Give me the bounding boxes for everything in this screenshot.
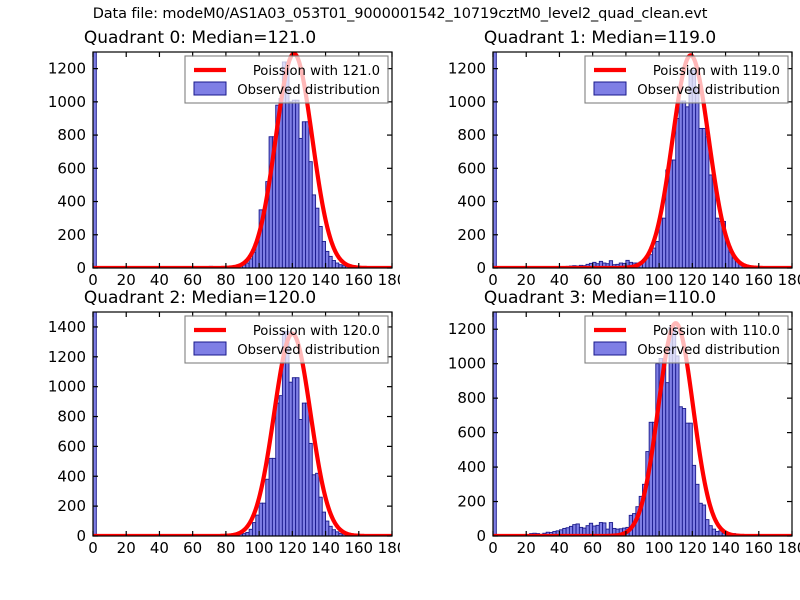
x-tick-label: 180 — [778, 539, 800, 557]
y-tick-label: 200 — [457, 226, 486, 244]
x-tick-label: 180 — [778, 271, 800, 289]
legend[interactable]: Poission with 120.0Observed distribution — [185, 316, 388, 363]
y-tick-label: 0 — [76, 527, 86, 545]
figure-canvas: Data file: modeM0/AS1A03_053T01_90000015… — [0, 0, 800, 600]
y-tick-label: 600 — [57, 159, 86, 177]
y-tick-label: 600 — [57, 437, 86, 455]
y-tick-label: 600 — [457, 424, 486, 442]
legend[interactable]: Poission with 119.0Observed distribution — [585, 56, 788, 103]
y-tick-label: 0 — [76, 259, 86, 277]
x-tick-label: 20 — [117, 539, 136, 557]
x-tick-label: 0 — [88, 271, 98, 289]
x-tick-label: 80 — [216, 271, 235, 289]
x-tick-label: 40 — [150, 539, 169, 557]
x-tick-label: 160 — [744, 271, 773, 289]
y-tick-label: 200 — [457, 493, 486, 511]
legend-label-poisson: Poission with 121.0 — [253, 64, 380, 79]
x-tick-label: 140 — [311, 539, 340, 557]
x-tick-label: 100 — [645, 539, 674, 557]
subplot-quadrant-3: Quadrant 3: Median=110.00204060801001201… — [400, 288, 800, 568]
y-tick-label: 400 — [457, 458, 486, 476]
y-tick-label: 1400 — [48, 318, 86, 336]
x-tick-label: 0 — [488, 271, 498, 289]
y-tick-label: 1000 — [48, 378, 86, 396]
x-tick-label: 80 — [616, 271, 635, 289]
legend-label-observed: Observed distribution — [637, 343, 780, 358]
x-tick-label: 140 — [311, 271, 340, 289]
legend-label-observed: Observed distribution — [237, 343, 380, 358]
x-tick-label: 120 — [678, 271, 707, 289]
y-tick-label: 400 — [57, 193, 86, 211]
subplot-quadrant-1: Quadrant 1: Median=119.00204060801001201… — [400, 28, 800, 300]
x-tick-label: 20 — [517, 539, 536, 557]
x-tick-label: 20 — [117, 271, 136, 289]
legend-label-poisson: Poission with 120.0 — [253, 324, 380, 339]
legend-label-poisson: Poission with 119.0 — [653, 64, 780, 79]
x-tick-label: 80 — [616, 539, 635, 557]
legend[interactable]: Poission with 110.0Observed distribution — [585, 316, 788, 363]
y-tick-label: 200 — [57, 226, 86, 244]
y-tick-label: 1000 — [448, 93, 486, 111]
y-tick-label: 600 — [457, 159, 486, 177]
x-tick-label: 60 — [583, 539, 602, 557]
y-tick-label: 800 — [57, 126, 86, 144]
x-tick-label: 160 — [344, 539, 373, 557]
x-tick-label: 140 — [711, 539, 740, 557]
y-tick-label: 1000 — [448, 355, 486, 373]
x-tick-label: 120 — [278, 539, 307, 557]
x-tick-label: 180 — [378, 271, 400, 289]
subplot-quadrant-2: Quadrant 2: Median=120.00204060801001201… — [0, 288, 400, 568]
subplot-title: Quadrant 2: Median=120.0 — [0, 288, 400, 308]
x-tick-label: 160 — [344, 271, 373, 289]
y-tick-label: 0 — [476, 259, 486, 277]
x-tick-label: 0 — [488, 539, 498, 557]
legend-label-observed: Observed distribution — [637, 83, 780, 98]
subplot-title: Quadrant 0: Median=121.0 — [0, 28, 400, 48]
subplot-quadrant-0: Quadrant 0: Median=121.00204060801001201… — [0, 28, 400, 300]
plot-area-svg: 0204060801001201401601800200400600800100… — [0, 288, 400, 568]
y-tick-label: 1200 — [48, 60, 86, 78]
x-tick-label: 20 — [517, 271, 536, 289]
y-tick-label: 1000 — [48, 93, 86, 111]
x-tick-label: 60 — [183, 271, 202, 289]
x-tick-label: 40 — [550, 539, 569, 557]
y-tick-label: 800 — [457, 389, 486, 407]
x-tick-label: 160 — [744, 539, 773, 557]
figure-suptitle: Data file: modeM0/AS1A03_053T01_90000015… — [0, 6, 800, 22]
x-tick-label: 100 — [645, 271, 674, 289]
x-tick-label: 100 — [245, 539, 274, 557]
x-tick-label: 60 — [583, 271, 602, 289]
y-tick-label: 1200 — [48, 348, 86, 366]
plot-area-svg: 0204060801001201401601800200400600800100… — [400, 288, 800, 568]
x-tick-label: 120 — [678, 539, 707, 557]
x-tick-label: 120 — [278, 271, 307, 289]
x-tick-label: 100 — [245, 271, 274, 289]
y-tick-label: 800 — [457, 126, 486, 144]
legend-label-poisson: Poission with 110.0 — [653, 324, 780, 339]
y-tick-label: 0 — [476, 527, 486, 545]
y-tick-label: 800 — [57, 408, 86, 426]
plot-area-svg: 0204060801001201401601800200400600800100… — [0, 28, 400, 300]
x-tick-label: 180 — [378, 539, 400, 557]
y-tick-label: 1200 — [448, 320, 486, 338]
legend-label-observed: Observed distribution — [237, 83, 380, 98]
y-tick-label: 1200 — [448, 60, 486, 78]
subplot-title: Quadrant 3: Median=110.0 — [400, 288, 800, 308]
subplot-title: Quadrant 1: Median=119.0 — [400, 28, 800, 48]
x-tick-label: 40 — [150, 271, 169, 289]
x-tick-label: 80 — [216, 539, 235, 557]
plot-area-svg: 0204060801001201401601800200400600800100… — [400, 28, 800, 300]
y-tick-label: 400 — [57, 467, 86, 485]
x-tick-label: 0 — [88, 539, 98, 557]
y-tick-label: 400 — [457, 193, 486, 211]
x-tick-label: 60 — [183, 539, 202, 557]
x-tick-label: 140 — [711, 271, 740, 289]
y-tick-label: 200 — [57, 497, 86, 515]
x-tick-label: 40 — [550, 271, 569, 289]
legend[interactable]: Poission with 121.0Observed distribution — [185, 56, 388, 103]
